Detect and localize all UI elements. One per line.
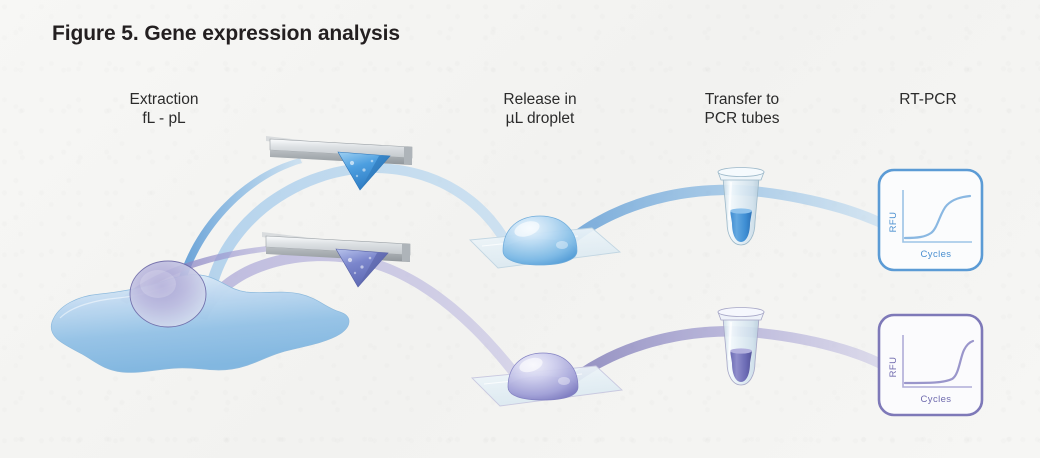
cell [51,261,349,372]
rtpcr-chart-purple-xlabel: Cycles [921,394,952,405]
pcr-tube-top-rim-ellipse [718,168,764,177]
rtpcr-chart-purple[interactable]: RFU Cycles [879,315,982,415]
pcr-tube-top-liquid-meniscus [730,208,752,213]
diagram-canvas: RFU Cycles RFU Cycles [0,0,1040,458]
pcr-tube-bottom-liquid-meniscus [730,348,752,353]
cell-nucleus-highlight [140,270,176,298]
cantilever-bottom-beam-end [402,244,410,262]
cantilever-bottom-bubble [354,272,356,274]
rtpcr-chart-blue-xlabel: Cycles [921,249,952,260]
cantilever-bottom-bubble [360,265,363,268]
arc-droplet-to-chart-bottom [563,326,884,388]
cantilever-top-bubble [356,175,358,177]
cantilever-top-beam-end [404,147,412,165]
figure-root: Figure 5. Gene expression analysis Extra… [0,0,1040,458]
rtpcr-chart-blue-ylabel: RFU [888,212,899,233]
droplet-top-specular-small [556,241,568,249]
cantilever-top-bubble [362,168,365,171]
cantilever-top-bubble [371,160,374,163]
cantilever-bottom-bubble [369,257,372,260]
pcr-tube-bottom [718,308,764,386]
droplet-bottom-specular-small [558,377,570,385]
droplet-top-dome [503,216,577,265]
droplet-bottom-dome [508,353,578,400]
rtpcr-chart-purple-ylabel: RFU [888,357,899,378]
cantilever-bottom-bubble [348,258,352,262]
pcr-tube-bottom-rim-ellipse [718,308,764,317]
cantilever-top-bubble [350,161,354,165]
pcr-tube-top [718,168,764,246]
rtpcr-chart-blue[interactable]: RFU Cycles [879,170,982,270]
